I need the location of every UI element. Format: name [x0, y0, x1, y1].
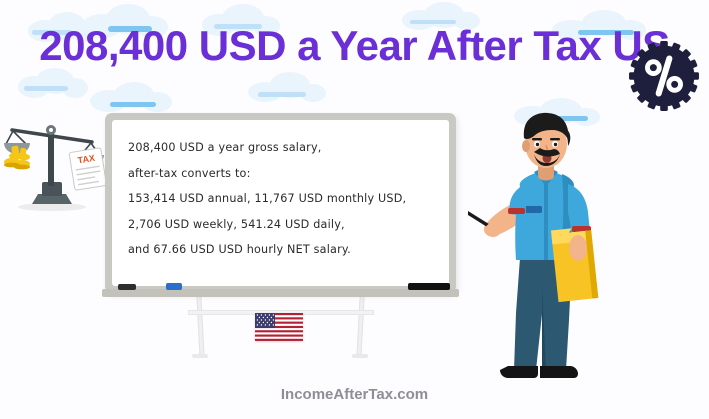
whiteboard-tray: [102, 289, 459, 297]
presenter-illustration: [468, 108, 678, 380]
blue-marker-icon: [166, 283, 182, 290]
cloud-icon: [14, 68, 92, 98]
us-flag-icon: [255, 313, 303, 341]
black-marker-icon: [408, 283, 450, 290]
whiteboard-surface: 208,400 USD a year gross salary, after-t…: [112, 120, 449, 286]
eraser-icon: [118, 284, 136, 290]
whiteboard-line: 208,400 USD a year gross salary,: [128, 135, 435, 161]
cloud-icon: [244, 72, 330, 102]
whiteboard-line: and 67.66 USD USD hourly NET salary.: [128, 237, 435, 263]
page-title: 208,400 USD a Year After Tax US: [0, 22, 709, 70]
cloud-icon: [86, 82, 178, 112]
balance-scale-icon: TAX: [4, 112, 108, 216]
whiteboard-line: after-tax converts to:: [128, 161, 435, 187]
infographic-canvas: 208,400 USD a Year After Tax US: [0, 0, 709, 419]
whiteboard-line: 153,414 USD annual, 11,767 USD monthly U…: [128, 186, 435, 212]
whiteboard-line: 2,706 USD weekly, 541.24 USD daily,: [128, 212, 435, 238]
percent-badge-icon: [626, 38, 702, 114]
whiteboard: 208,400 USD a year gross salary, after-t…: [105, 113, 456, 293]
site-footer: IncomeAfterTax.com: [0, 386, 709, 403]
